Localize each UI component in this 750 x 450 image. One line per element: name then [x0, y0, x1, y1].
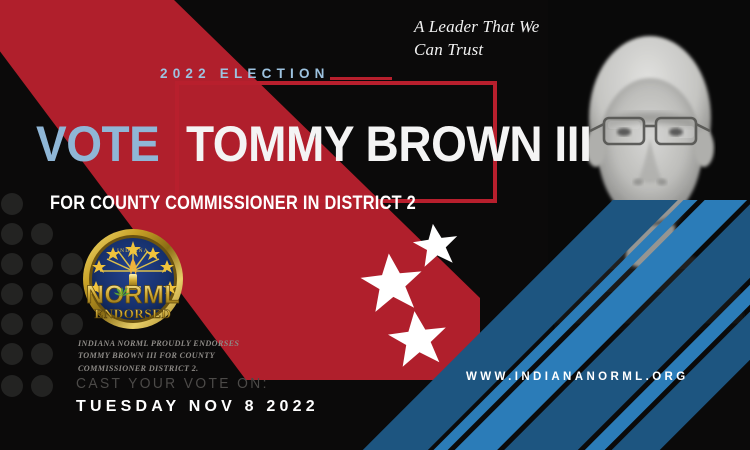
- blue-stripes-and-stars: [330, 200, 750, 450]
- election-date: TUESDAY NOV 8 2022: [76, 398, 319, 416]
- cast-vote-label: CAST YOUR VOTE ON:: [76, 375, 269, 392]
- campaign-poster: A Leader That We Can Trust 2022 ELECTION…: [0, 0, 750, 450]
- norml-endorsed-seal: INDIANA NORML ENDORSED: [74, 227, 192, 335]
- endorsement-line-1: INDIANA NORML PROUDLY ENDORSES: [78, 338, 253, 350]
- star-group: [358, 221, 460, 368]
- logo-brand-text: NORML: [86, 281, 180, 309]
- endorsement-line-3: COMMISSIONER DISTRICT 2.: [78, 363, 253, 375]
- headline: VOTETOMMY BROWN III: [36, 115, 506, 173]
- endorsement-line-2: TOMMY BROWN III FOR COUNTY: [78, 350, 253, 362]
- tagline-line-1: A Leader That We: [414, 16, 604, 39]
- election-year-label: 2022 ELECTION: [160, 66, 330, 81]
- tagline: A Leader That We Can Trust: [414, 16, 604, 62]
- tagline-line-2: Can Trust: [414, 39, 604, 62]
- office-subheadline: FOR COUNTY COMMISSIONER IN DISTRICT 2: [50, 193, 416, 215]
- logo-sub-text: ENDORSED: [94, 306, 171, 321]
- endorsement-statement: INDIANA NORML PROUDLY ENDORSES TOMMY BRO…: [78, 338, 253, 375]
- logo-top-text: INDIANA: [117, 248, 149, 254]
- candidate-name: TOMMY BROWN III: [186, 115, 591, 173]
- election-rule: [330, 77, 392, 80]
- website-url: WWW.INDIANANORML.ORG: [466, 371, 689, 383]
- vote-word: VOTE: [36, 115, 159, 173]
